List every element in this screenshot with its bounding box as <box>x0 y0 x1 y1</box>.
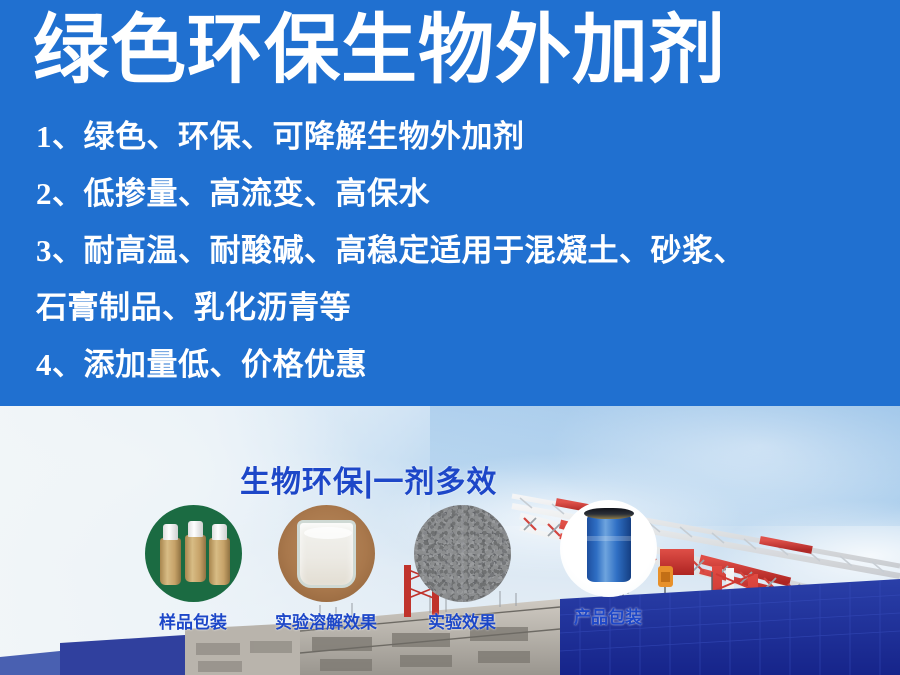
feature-list: 1、绿色、环保、可降解生物外加剂 2、低掺量、高流变、高保水 3、耐高温、耐酸碱… <box>36 108 866 393</box>
blue-drum-icon <box>560 500 657 597</box>
feature-line-3: 3、耐高温、耐酸碱、高稳定适用于混凝土、砂浆、 <box>36 222 866 279</box>
sample-bottles-icon <box>145 505 242 602</box>
product-poster: 绿色环保生物外加剂 1、绿色、环保、可降解生物外加剂 2、低掺量、高流变、高保水… <box>0 0 900 675</box>
page-title: 绿色环保生物外加剂 <box>33 8 726 94</box>
product-caption-2: 实验溶解效果 <box>274 608 378 633</box>
feature-line-2: 2、低掺量、高流变、高保水 <box>36 165 866 222</box>
feature-line-3-cont: 石膏制品、乳化沥青等 <box>36 279 866 336</box>
product-item-4[interactable]: 产品包装 <box>556 500 660 628</box>
product-caption-4: 产品包装 <box>556 603 660 628</box>
product-item-3[interactable]: 实验效果 <box>410 505 514 633</box>
beaker-solution-icon <box>278 505 375 602</box>
feature-line-4: 4、添加量低、价格优惠 <box>36 336 866 393</box>
concrete-texture-icon <box>414 505 511 602</box>
blue-info-panel: 绿色环保生物外加剂 1、绿色、环保、可降解生物外加剂 2、低掺量、高流变、高保水… <box>0 0 900 406</box>
product-caption-1: 样品包装 <box>141 608 245 633</box>
feature-line-1: 1、绿色、环保、可降解生物外加剂 <box>36 108 866 165</box>
product-circle-row: 样品包装 实验溶解效果 实验效果 产品包装 <box>0 406 900 675</box>
product-caption-3: 实验效果 <box>410 608 514 633</box>
product-item-2[interactable]: 实验溶解效果 <box>274 505 378 633</box>
product-item-1[interactable]: 样品包装 <box>141 505 245 633</box>
